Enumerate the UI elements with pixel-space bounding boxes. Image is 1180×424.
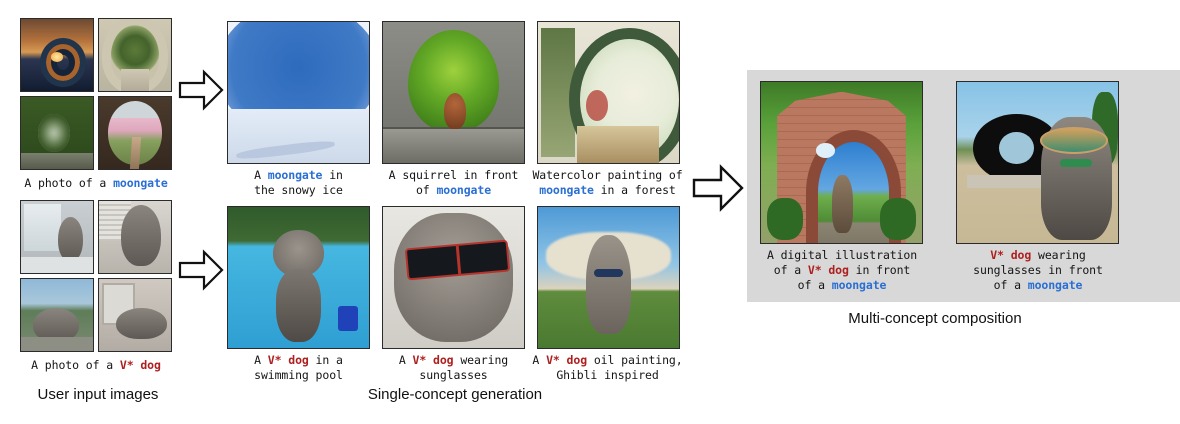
input-image-moongate-cherry-blossom: [98, 96, 172, 170]
keyword-moongate: moongate: [539, 183, 594, 197]
gen-image-dog-oil-painting-ghibli: [537, 206, 680, 349]
caption-gen-squirrel-moongate: A squirrel in front of moongate: [373, 168, 534, 198]
gen-image-watercolor-moongate-forest: [537, 21, 680, 164]
figure-root: A photo of a moongate A photo of a V* do…: [0, 0, 1180, 424]
caption-gen-dog-ghibli: A V* dog oil painting, Ghibli inspired: [526, 353, 689, 383]
caption-gen-dog-sunglasses: A V* dog wearing sunglasses: [373, 353, 534, 383]
gen-image-squirrel-in-front-of-moongate: [382, 21, 525, 164]
gen-image-dog-swimming-pool: [227, 206, 370, 349]
caption-gen-watercolor-moongate: Watercolor painting of moongate in a for…: [526, 168, 689, 198]
caption-gen-dog-swimming-pool: A V* dog in a swimming pool: [218, 353, 379, 383]
keyword-v-dog: V* dog: [268, 353, 309, 367]
keyword-v-dog: V* dog: [413, 353, 454, 367]
section-label-user-input: User input images: [0, 386, 196, 404]
keyword-v-dog: V* dog: [808, 263, 849, 277]
caption-text: in a forest: [594, 183, 676, 197]
caption-dog-input: A photo of a V* dog: [10, 358, 182, 373]
input-image-moongate-bamboo-garden: [98, 18, 172, 92]
caption-text: A photo of a: [31, 358, 120, 372]
caption-text: A: [532, 353, 546, 367]
input-image-dog-by-snowy-window: [20, 200, 94, 274]
keyword-moongate: moongate: [832, 278, 887, 292]
comp-image-dog-sunglasses-moongate: [956, 81, 1119, 244]
caption-text: A: [254, 353, 268, 367]
caption-comp-dog-sunglasses: V* dog wearing sunglasses in front of a …: [946, 248, 1130, 293]
arrow-inputs-to-dog-generation: [178, 248, 224, 292]
keyword-v-dog: V* dog: [120, 358, 161, 372]
caption-text: A photo of a: [24, 176, 113, 190]
caption-text: A: [254, 168, 268, 182]
input-image-dog-on-mountain-overlook: [20, 278, 94, 352]
keyword-moongate: moongate: [1028, 278, 1083, 292]
caption-comp-digital-illustration: A digital illustration of a V* dog in fr…: [750, 248, 934, 293]
caption-text: A: [399, 353, 413, 367]
input-image-moongate-sculpture-sunset: [20, 18, 94, 92]
keyword-v-dog: V* dog: [546, 353, 587, 367]
input-image-dog-portrait-indoors: [98, 200, 172, 274]
keyword-moongate: moongate: [436, 183, 491, 197]
section-label-multi-concept: Multi-concept composition: [760, 310, 1110, 328]
arrow-inputs-to-moongate-generation: [178, 68, 224, 112]
gen-image-moongate-snowy-ice: [227, 21, 370, 164]
caption-text: Watercolor painting of: [532, 168, 682, 182]
caption-gen-moongate-snowy-ice: A moongate in the snowy ice: [218, 168, 379, 198]
arrow-single-to-multi-concept: [692, 163, 744, 213]
keyword-moongate: moongate: [268, 168, 323, 182]
caption-moongate-input: A photo of a moongate: [10, 176, 182, 191]
input-image-dog-lying-on-floor: [98, 278, 172, 352]
section-label-single-concept: Single-concept generation: [280, 386, 630, 404]
keyword-moongate: moongate: [113, 176, 168, 190]
gen-image-dog-wearing-sunglasses: [382, 206, 525, 349]
keyword-v-dog: V* dog: [990, 248, 1031, 262]
input-image-moongate-ivy-arch: [20, 96, 94, 170]
comp-image-digital-illustration-dog-moongate: [760, 81, 923, 244]
